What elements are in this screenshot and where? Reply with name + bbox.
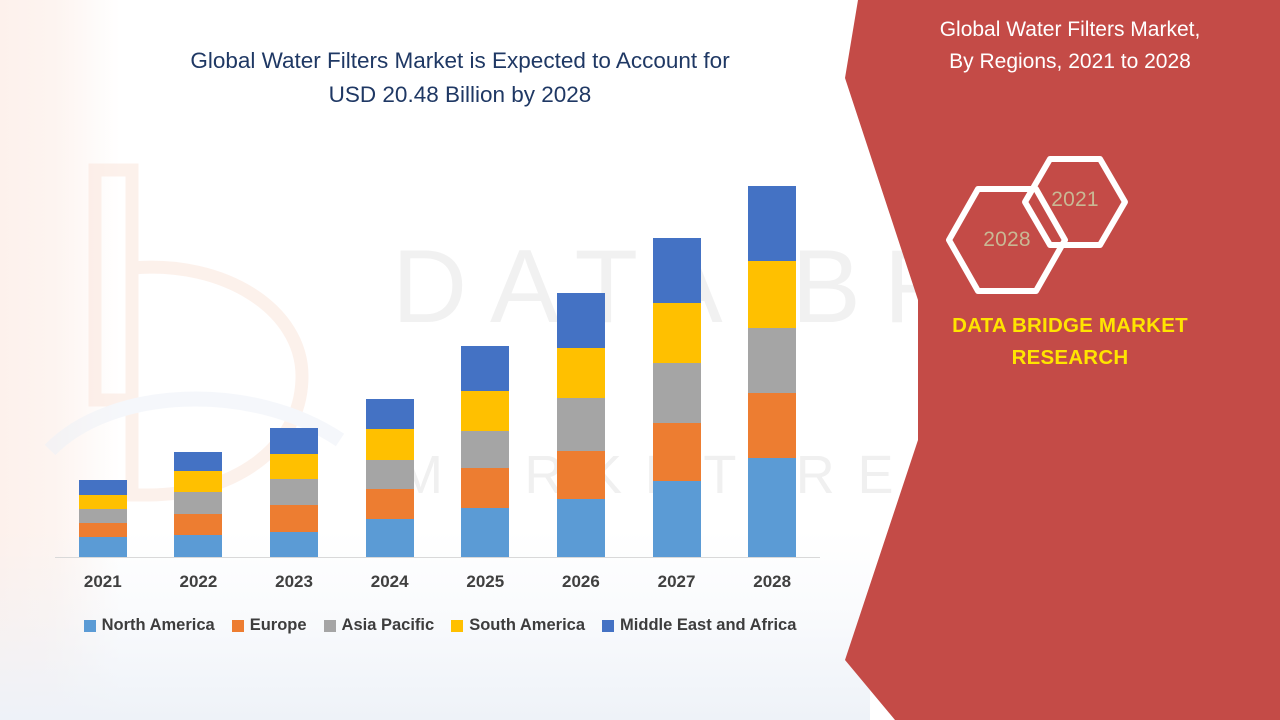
brand-line-1: DATA BRIDGE MARKET xyxy=(880,310,1260,342)
bar-segment xyxy=(557,293,605,348)
legend-swatch-icon xyxy=(451,620,463,632)
x-axis-label-2024: 2024 xyxy=(342,572,438,592)
bar-segment xyxy=(653,363,701,423)
chart-plot-area xyxy=(55,160,820,558)
legend-swatch-icon xyxy=(602,620,614,632)
bar-segment xyxy=(79,480,127,495)
bar-segment xyxy=(461,508,509,558)
bar-segment xyxy=(174,452,222,471)
brand-line-2: RESEARCH xyxy=(880,342,1260,374)
hexagon-badges: 2028 2021 xyxy=(940,155,1170,300)
bar-segment xyxy=(79,495,127,509)
legend-label: Middle East and Africa xyxy=(620,616,796,635)
x-axis-label-2025: 2025 xyxy=(437,572,533,592)
bar-segment xyxy=(174,535,222,558)
bar-segment xyxy=(653,303,701,363)
bar-segment xyxy=(748,261,796,328)
stacked-bar-chart: 20212022202320242025202620272028 North A… xyxy=(0,0,870,720)
x-axis-line xyxy=(55,557,820,558)
legend-label: North America xyxy=(102,616,215,635)
bar-segment xyxy=(79,523,127,537)
legend-item[interactable]: Middle East and Africa xyxy=(602,616,796,635)
bar-segment xyxy=(174,514,222,535)
legend-label: Asia Pacific xyxy=(342,616,435,635)
x-axis-label-2027: 2027 xyxy=(629,572,725,592)
hexagon-right-year: 2021 xyxy=(1038,188,1112,212)
legend-swatch-icon xyxy=(324,620,336,632)
bar-segment xyxy=(174,492,222,514)
bar-segment xyxy=(748,393,796,458)
legend-label: Europe xyxy=(250,616,307,635)
bar-column-2026 xyxy=(557,293,605,558)
bar-segment xyxy=(270,428,318,454)
bar-segment xyxy=(461,391,509,431)
bar-segment xyxy=(366,399,414,429)
x-axis-label-2028: 2028 xyxy=(724,572,820,592)
bar-segment xyxy=(270,454,318,479)
bar-segment xyxy=(79,509,127,523)
bar-segment xyxy=(174,471,222,492)
bar-column-2025 xyxy=(461,346,509,558)
panel-title-line-2: By Regions, 2021 to 2028 xyxy=(880,46,1260,78)
bar-segment xyxy=(79,537,127,558)
bar-segment xyxy=(557,348,605,398)
bar-segment xyxy=(461,431,509,468)
bar-segment xyxy=(653,423,701,481)
x-axis-label-2023: 2023 xyxy=(246,572,342,592)
hexagon-left-year: 2028 xyxy=(970,228,1044,252)
bar-segment xyxy=(557,398,605,451)
x-axis-tick-labels: 20212022202320242025202620272028 xyxy=(55,572,820,604)
bar-segment xyxy=(366,489,414,519)
bar-segment xyxy=(461,346,509,391)
bar-segment xyxy=(557,451,605,499)
x-axis-label-2021: 2021 xyxy=(55,572,151,592)
infographic-canvas: DATA BRIDGE MARKET RESEARCH Global Water… xyxy=(0,0,1280,720)
chart-legend: North AmericaEuropeAsia PacificSouth Ame… xyxy=(55,616,825,635)
bar-column-2024 xyxy=(366,399,414,558)
legend-item[interactable]: South America xyxy=(451,616,585,635)
bar-segment xyxy=(748,328,796,393)
legend-item[interactable]: Asia Pacific xyxy=(324,616,435,635)
bar-segment xyxy=(270,479,318,505)
legend-swatch-icon xyxy=(84,620,96,632)
bar-segment xyxy=(653,238,701,303)
bar-column-2022 xyxy=(174,452,222,558)
bar-column-2028 xyxy=(748,186,796,558)
legend-item[interactable]: North America xyxy=(84,616,215,635)
legend-label: South America xyxy=(469,616,585,635)
panel-title: Global Water Filters Market, By Regions,… xyxy=(880,14,1260,78)
x-axis-label-2026: 2026 xyxy=(533,572,629,592)
bar-column-2023 xyxy=(270,428,318,558)
bar-segment xyxy=(270,532,318,558)
brand-name: DATA BRIDGE MARKET RESEARCH xyxy=(880,310,1260,374)
bar-segment xyxy=(366,519,414,558)
bar-segment xyxy=(653,481,701,558)
bar-column-2021 xyxy=(79,480,127,558)
legend-item[interactable]: Europe xyxy=(232,616,307,635)
bar-segment xyxy=(557,499,605,558)
bar-segment xyxy=(748,186,796,261)
bar-column-2027 xyxy=(653,238,701,558)
bar-segment xyxy=(270,505,318,532)
right-banner-panel: Global Water Filters Market, By Regions,… xyxy=(840,0,1280,720)
bar-segment xyxy=(366,429,414,460)
x-axis-label-2022: 2022 xyxy=(150,572,246,592)
legend-swatch-icon xyxy=(232,620,244,632)
bar-segment xyxy=(366,460,414,489)
bar-segment xyxy=(461,468,509,508)
panel-title-line-1: Global Water Filters Market, xyxy=(880,14,1260,46)
bar-segment xyxy=(748,458,796,558)
